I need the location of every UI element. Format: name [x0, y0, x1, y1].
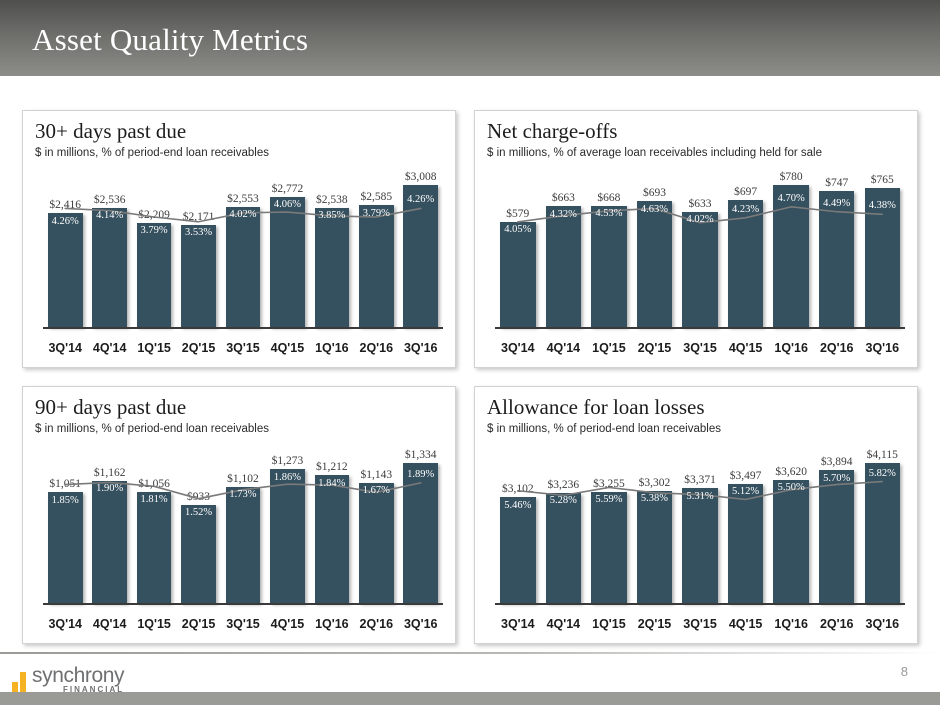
bar-percent-label: 3.79%: [141, 225, 168, 236]
x-axis-label: 4Q'14: [87, 617, 131, 631]
chart-title: Net charge-offs: [487, 119, 617, 144]
bar-percent-label: 4.70%: [778, 193, 805, 204]
bar[interactable]: 3.79%: [359, 205, 394, 327]
x-axis-label: 3Q'14: [495, 341, 541, 355]
bar-percent-label: 1.84%: [318, 478, 345, 489]
bar-percent-label: 4.32%: [550, 209, 577, 220]
bar-value-label: $3,894: [821, 456, 853, 468]
bar[interactable]: 1.84%: [315, 475, 350, 603]
plot-area: $3,1025.46%$3,2365.28%$3,2555.59%$3,3025…: [487, 443, 907, 633]
bar-value-label: $2,772: [272, 183, 304, 195]
bar-value-label: $633: [689, 198, 712, 210]
x-axis-label: 2Q'16: [814, 341, 860, 355]
bar-percent-label: 1.67%: [363, 485, 390, 496]
bar-value-label: $3,302: [639, 477, 671, 489]
page-title: Asset Quality Metrics: [32, 22, 308, 58]
bar-percent-label: 4.06%: [274, 199, 301, 210]
bar[interactable]: 4.05%: [500, 222, 536, 327]
bar-slot: $2,4164.26%: [43, 167, 87, 327]
bar-percent-label: 1.86%: [274, 472, 301, 483]
bar-value-label: $697: [734, 186, 757, 198]
bar-slot: $9331.52%: [176, 443, 220, 603]
bar-value-label: $2,171: [183, 211, 215, 223]
bar-percent-label: 5.31%: [686, 491, 713, 502]
x-axis-label: 2Q'15: [632, 617, 678, 631]
bar-percent-label: 5.50%: [778, 482, 805, 493]
bar-percent-label: 3.85%: [318, 210, 345, 221]
bar-group: $1,0511.85%$1,1621.90%$1,0561.81%$9331.5…: [43, 443, 443, 603]
bar[interactable]: 5.46%: [500, 497, 536, 603]
x-axis-line: [495, 327, 905, 329]
bar-percent-label: 5.46%: [504, 500, 531, 511]
x-axis-label: 2Q'15: [176, 341, 220, 355]
bar-value-label: $579: [506, 208, 529, 220]
bar-percent-label: 4.05%: [504, 224, 531, 235]
bar-percent-label: 5.38%: [641, 493, 668, 504]
bar-percent-label: 4.63%: [641, 204, 668, 215]
x-axis-label: 3Q'16: [860, 617, 906, 631]
bar-group: $5794.05%$6634.32%$6684.53%$6934.63%$633…: [495, 167, 905, 327]
bar-value-label: $2,553: [227, 193, 259, 205]
bar-percent-label: 4.23%: [732, 204, 759, 215]
chart-subtitle: $ in millions, % of period-end loan rece…: [487, 423, 721, 435]
bar[interactable]: 4.38%: [865, 188, 901, 327]
bar-percent-label: 4.26%: [52, 216, 79, 227]
bar[interactable]: 1.90%: [92, 481, 127, 603]
x-axis-line: [43, 327, 443, 329]
x-axis-label: 1Q'16: [768, 617, 814, 631]
synchrony-logo: synchrony FINANCIAL: [12, 666, 124, 694]
bar-value-label: $3,371: [684, 474, 716, 486]
bar-value-label: $2,416: [49, 199, 81, 211]
bar-value-label: $1,212: [316, 461, 348, 473]
chart-title: Allowance for loan losses: [487, 395, 705, 420]
x-axis-label: 4Q'15: [265, 617, 309, 631]
x-axis-label: 1Q'15: [132, 341, 176, 355]
x-axis-label: 3Q'15: [677, 617, 723, 631]
x-axis-label: 3Q'15: [677, 341, 723, 355]
bar-slot: $2,1713.53%: [176, 167, 220, 327]
chart-title: 90+ days past due: [35, 395, 186, 420]
bar-group: $2,4164.26%$2,5364.14%$2,2093.79%$2,1713…: [43, 167, 443, 327]
bar-slot: $3,8945.70%: [814, 443, 860, 603]
bar-percent-label: 4.49%: [823, 198, 850, 209]
x-axis-label: 2Q'15: [176, 617, 220, 631]
bar-slot: $1,1621.90%: [87, 443, 131, 603]
bar-slot: $2,5534.02%: [221, 167, 265, 327]
x-axis-labels: 3Q'144Q'141Q'152Q'153Q'154Q'151Q'162Q'16…: [43, 341, 443, 355]
bar-value-label: $3,008: [405, 171, 437, 183]
bar[interactable]: 5.50%: [773, 480, 809, 603]
bar-percent-label: 5.59%: [595, 494, 622, 505]
x-axis-label: 1Q'15: [586, 617, 632, 631]
bar[interactable]: 4.23%: [728, 200, 764, 327]
bar-slot: $1,0561.81%: [132, 443, 176, 603]
x-axis-labels: 3Q'144Q'141Q'152Q'153Q'154Q'151Q'162Q'16…: [495, 341, 905, 355]
x-axis-label: 4Q'14: [541, 617, 587, 631]
x-axis-label: 3Q'14: [495, 617, 541, 631]
bar-percent-label: 5.12%: [732, 486, 759, 497]
bar-slot: $6684.53%: [586, 167, 632, 327]
bar-percent-label: 1.85%: [52, 495, 79, 506]
slide: Asset Quality Metrics 30+ days past due …: [0, 0, 940, 705]
bar-slot: $1,1021.73%: [221, 443, 265, 603]
bar[interactable]: 4.26%: [48, 213, 83, 327]
bar-percent-label: 3.79%: [363, 208, 390, 219]
bar[interactable]: 4.53%: [591, 206, 627, 327]
x-axis-label: 2Q'16: [354, 617, 398, 631]
bar-percent-label: 1.90%: [96, 483, 123, 494]
bar-slot: $6334.02%: [677, 167, 723, 327]
bar-slot: $1,3341.89%: [399, 443, 443, 603]
bar[interactable]: 1.86%: [270, 469, 305, 603]
x-axis-labels: 3Q'144Q'141Q'152Q'153Q'154Q'151Q'162Q'16…: [495, 617, 905, 631]
bar[interactable]: 4.63%: [637, 201, 673, 327]
logo-wordmark: synchrony: [32, 666, 124, 686]
x-axis-label: 1Q'16: [310, 617, 354, 631]
bar-slot: $1,1431.67%: [354, 443, 398, 603]
bar-value-label: $3,620: [775, 466, 807, 478]
bar-percent-label: 5.70%: [823, 473, 850, 484]
x-axis-label: 1Q'16: [310, 341, 354, 355]
bar[interactable]: 4.06%: [270, 197, 305, 327]
bar-value-label: $747: [825, 177, 848, 189]
bar-slot: $3,0084.26%: [399, 167, 443, 327]
bottom-bar: [0, 692, 940, 705]
bar[interactable]: 1.85%: [48, 492, 83, 603]
x-axis-label: 3Q'16: [399, 341, 443, 355]
bar[interactable]: 3.79%: [137, 223, 172, 327]
slide-header: Asset Quality Metrics: [0, 0, 940, 76]
bar-value-label: $1,051: [49, 478, 81, 490]
chart-subtitle: $ in millions, % of period-end loan rece…: [35, 423, 269, 435]
chart-panel-30-days-past-due: 30+ days past due $ in millions, % of pe…: [22, 110, 456, 368]
bar-value-label: $2,209: [138, 209, 170, 221]
bar-slot: $6634.32%: [541, 167, 587, 327]
bar-value-label: $1,162: [94, 467, 126, 479]
bar-slot: $2,7724.06%: [265, 167, 309, 327]
bar-percent-label: 4.02%: [229, 209, 256, 220]
bar[interactable]: 4.70%: [773, 185, 809, 327]
bar-value-label: $3,255: [593, 478, 625, 490]
chart-title: 30+ days past due: [35, 119, 186, 144]
bar-percent-label: 1.52%: [185, 507, 212, 518]
bar-slot: $7654.38%: [860, 167, 906, 327]
bar[interactable]: 4.14%: [92, 208, 127, 327]
bar-slot: $7474.49%: [814, 167, 860, 327]
x-axis-label: 3Q'15: [221, 341, 265, 355]
bar-slot: $3,2365.28%: [541, 443, 587, 603]
plot-area: $1,0511.85%$1,1621.90%$1,0561.81%$9331.5…: [35, 443, 445, 633]
bar-slot: $3,3715.31%: [677, 443, 723, 603]
x-axis-label: 4Q'15: [265, 341, 309, 355]
bar-slot: $1,0511.85%: [43, 443, 87, 603]
bar-value-label: $693: [643, 187, 666, 199]
bar-slot: $3,4975.12%: [723, 443, 769, 603]
bar-percent-label: 4.38%: [869, 200, 896, 211]
bar-percent-label: 4.53%: [595, 208, 622, 219]
bar[interactable]: 1.73%: [226, 487, 261, 603]
bar[interactable]: 1.89%: [403, 463, 438, 603]
x-axis-label: 4Q'15: [723, 617, 769, 631]
bar-value-label: $1,102: [227, 473, 259, 485]
x-axis-label: 1Q'15: [586, 341, 632, 355]
chart-subtitle: $ in millions, % of average loan receiva…: [487, 147, 822, 159]
bar-value-label: $3,497: [730, 470, 762, 482]
bar[interactable]: 4.02%: [682, 212, 718, 327]
x-axis-label: 4Q'14: [87, 341, 131, 355]
bar[interactable]: 5.38%: [637, 491, 673, 603]
bar[interactable]: 5.31%: [682, 488, 718, 603]
bar-slot: $4,1155.82%: [860, 443, 906, 603]
x-axis-labels: 3Q'144Q'141Q'152Q'153Q'154Q'151Q'162Q'16…: [43, 617, 443, 631]
bar-percent-label: 1.73%: [229, 489, 256, 500]
bar[interactable]: 4.26%: [403, 185, 438, 327]
bar-value-label: $933: [187, 491, 210, 503]
bar-slot: $1,2121.84%: [310, 443, 354, 603]
bar[interactable]: 4.02%: [226, 207, 261, 327]
bar[interactable]: 3.85%: [315, 208, 350, 327]
bar-slot: $5794.05%: [495, 167, 541, 327]
bar-slot: $6934.63%: [632, 167, 678, 327]
bar-value-label: $765: [871, 174, 894, 186]
x-axis-line: [43, 603, 443, 605]
bar[interactable]: 5.59%: [591, 492, 627, 603]
bar-value-label: $1,056: [138, 478, 170, 490]
x-axis-label: 4Q'15: [723, 341, 769, 355]
bar[interactable]: 1.81%: [137, 492, 172, 603]
bar-slot: $3,2555.59%: [586, 443, 632, 603]
bar-value-label: $3,102: [502, 483, 534, 495]
bar-slot: $3,6205.50%: [768, 443, 814, 603]
bar-slot: $3,3025.38%: [632, 443, 678, 603]
bar[interactable]: 4.49%: [819, 191, 855, 327]
footer-divider: [0, 652, 940, 654]
x-axis-label: 1Q'16: [768, 341, 814, 355]
bar-slot: $2,5364.14%: [87, 167, 131, 327]
bar-slot: $7804.70%: [768, 167, 814, 327]
bar-percent-label: 4.14%: [96, 210, 123, 221]
x-axis-label: 4Q'14: [541, 341, 587, 355]
bar-slot: $3,1025.46%: [495, 443, 541, 603]
chart-panel-allowance-for-loan-losses: Allowance for loan losses $ in millions,…: [474, 386, 918, 644]
bar-value-label: $4,115: [867, 449, 898, 461]
bar-value-label: $1,143: [360, 469, 392, 481]
bar-value-label: $668: [597, 192, 620, 204]
bar-slot: $2,2093.79%: [132, 167, 176, 327]
x-axis-label: 2Q'15: [632, 341, 678, 355]
x-axis-line: [495, 603, 905, 605]
x-axis-label: 3Q'16: [860, 341, 906, 355]
bar-percent-label: 1.81%: [141, 494, 168, 505]
x-axis-label: 1Q'15: [132, 617, 176, 631]
bar-value-label: $1,334: [405, 449, 437, 461]
bar[interactable]: 5.28%: [546, 493, 582, 603]
bar-value-label: $2,536: [94, 194, 126, 206]
page-number: 8: [901, 664, 908, 679]
bar[interactable]: 5.82%: [865, 463, 901, 603]
bar-value-label: $2,538: [316, 194, 348, 206]
bar-value-label: $3,236: [548, 479, 580, 491]
bar-percent-label: 1.89%: [407, 469, 434, 480]
bar[interactable]: 1.52%: [181, 505, 216, 603]
bar-percent-label: 5.28%: [550, 495, 577, 506]
x-axis-label: 3Q'16: [399, 617, 443, 631]
bar-value-label: $663: [552, 192, 575, 204]
bar-value-label: $780: [780, 171, 803, 183]
x-axis-label: 2Q'16: [814, 617, 860, 631]
x-axis-label: 3Q'14: [43, 341, 87, 355]
bar-slot: $2,5853.79%: [354, 167, 398, 327]
bar[interactable]: 4.32%: [546, 206, 582, 327]
bar[interactable]: 5.12%: [728, 484, 764, 603]
chart-panel-90-days-past-due: 90+ days past due $ in millions, % of pe…: [22, 386, 456, 644]
bar-group: $3,1025.46%$3,2365.28%$3,2555.59%$3,3025…: [495, 443, 905, 603]
bar-value-label: $2,585: [360, 191, 392, 203]
bar[interactable]: 1.67%: [359, 483, 394, 603]
bar[interactable]: 5.70%: [819, 470, 855, 603]
bar-value-label: $1,273: [272, 455, 304, 467]
x-axis-label: 3Q'14: [43, 617, 87, 631]
plot-area: $2,4164.26%$2,5364.14%$2,2093.79%$2,1713…: [35, 167, 445, 357]
bar-percent-label: 3.53%: [185, 227, 212, 238]
bar-slot: $1,2731.86%: [265, 443, 309, 603]
chart-subtitle: $ in millions, % of period-end loan rece…: [35, 147, 269, 159]
x-axis-label: 2Q'16: [354, 341, 398, 355]
plot-area: $5794.05%$6634.32%$6684.53%$6934.63%$633…: [487, 167, 907, 357]
x-axis-label: 3Q'15: [221, 617, 265, 631]
bar-slot: $2,5383.85%: [310, 167, 354, 327]
bar-percent-label: 5.82%: [869, 468, 896, 479]
bar-slot: $6974.23%: [723, 167, 769, 327]
bar-percent-label: 4.02%: [686, 214, 713, 225]
bar[interactable]: 3.53%: [181, 225, 216, 327]
bar-percent-label: 4.26%: [407, 194, 434, 205]
chart-panel-net-charge-offs: Net charge-offs $ in millions, % of aver…: [474, 110, 918, 368]
logo-bars-icon: [12, 672, 26, 694]
